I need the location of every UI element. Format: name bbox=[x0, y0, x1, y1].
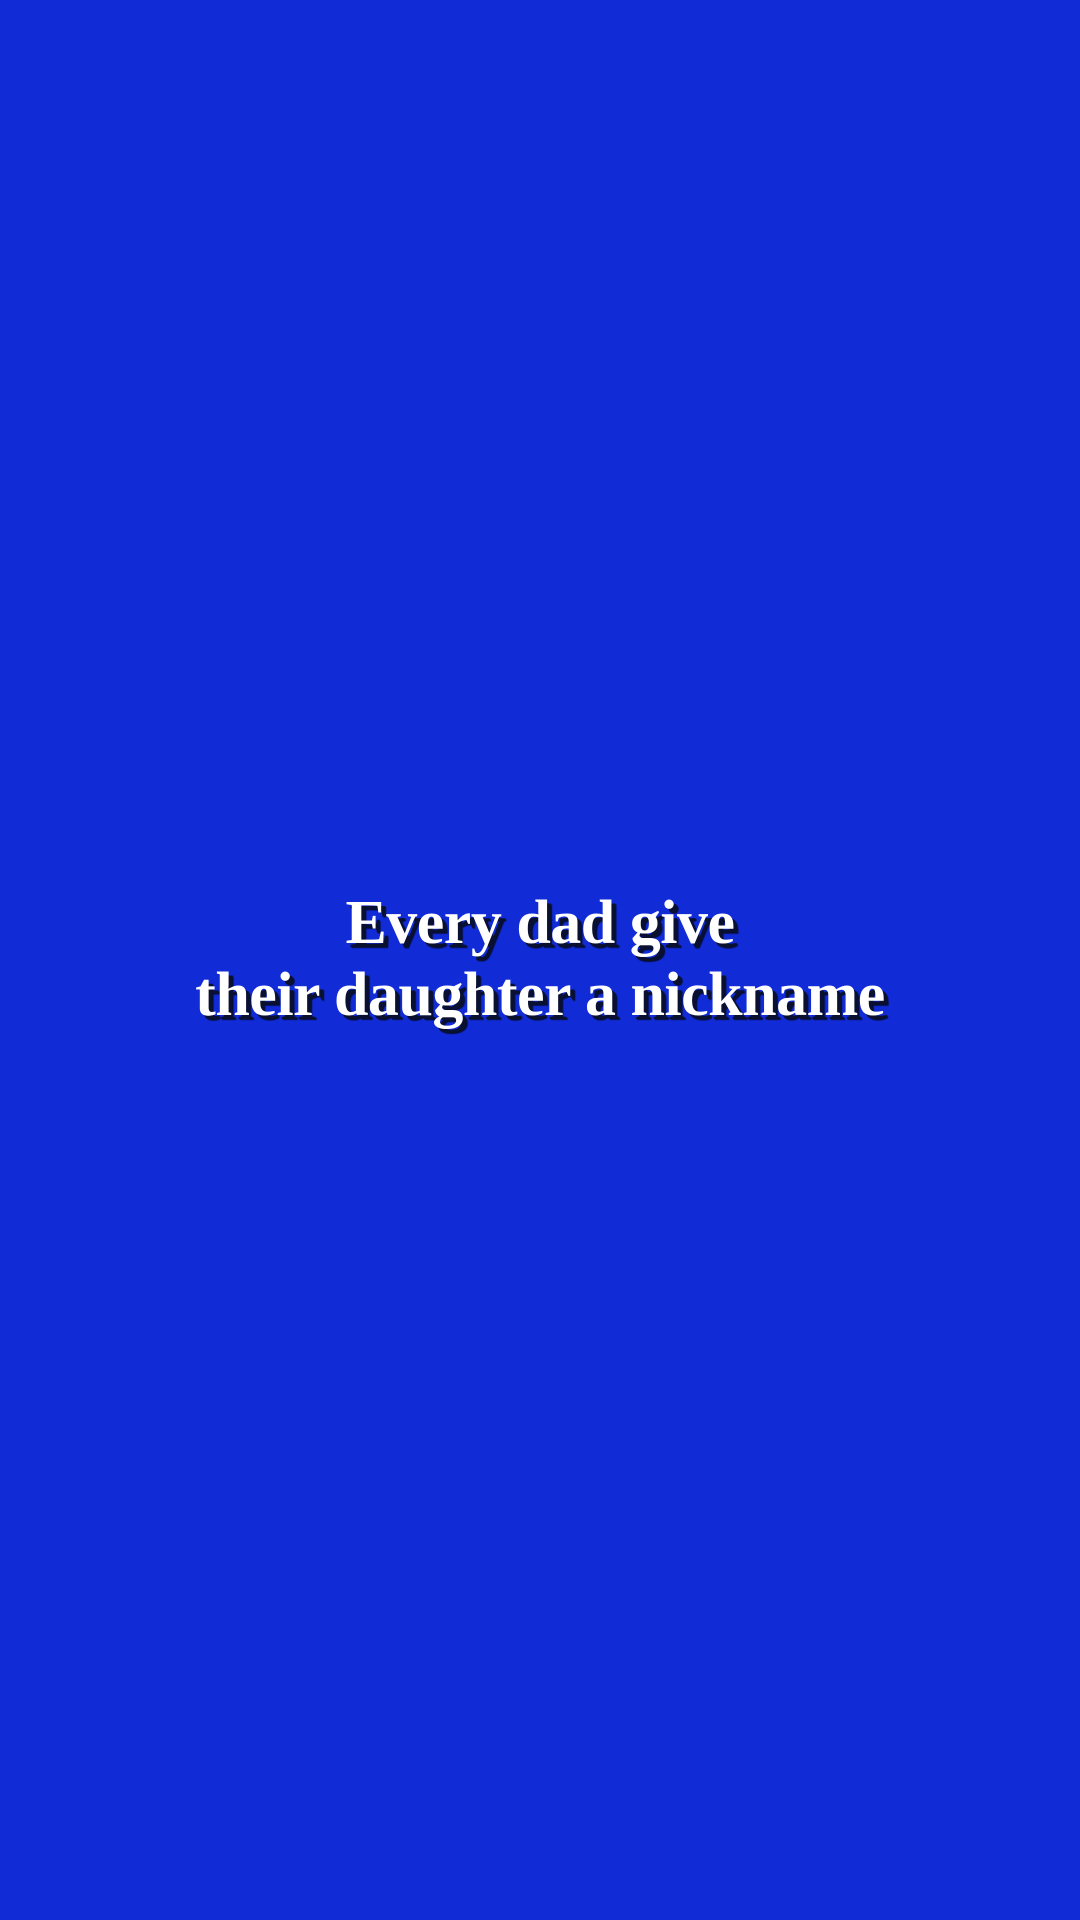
story-canvas: Every dad give their daughter a nickname bbox=[0, 0, 1080, 1920]
caption-line-1: Every dad give bbox=[60, 892, 1020, 954]
caption-line-2: their daughter a nickname bbox=[60, 964, 1020, 1026]
caption-text-block: Every dad give their daughter a nickname bbox=[0, 892, 1080, 1026]
